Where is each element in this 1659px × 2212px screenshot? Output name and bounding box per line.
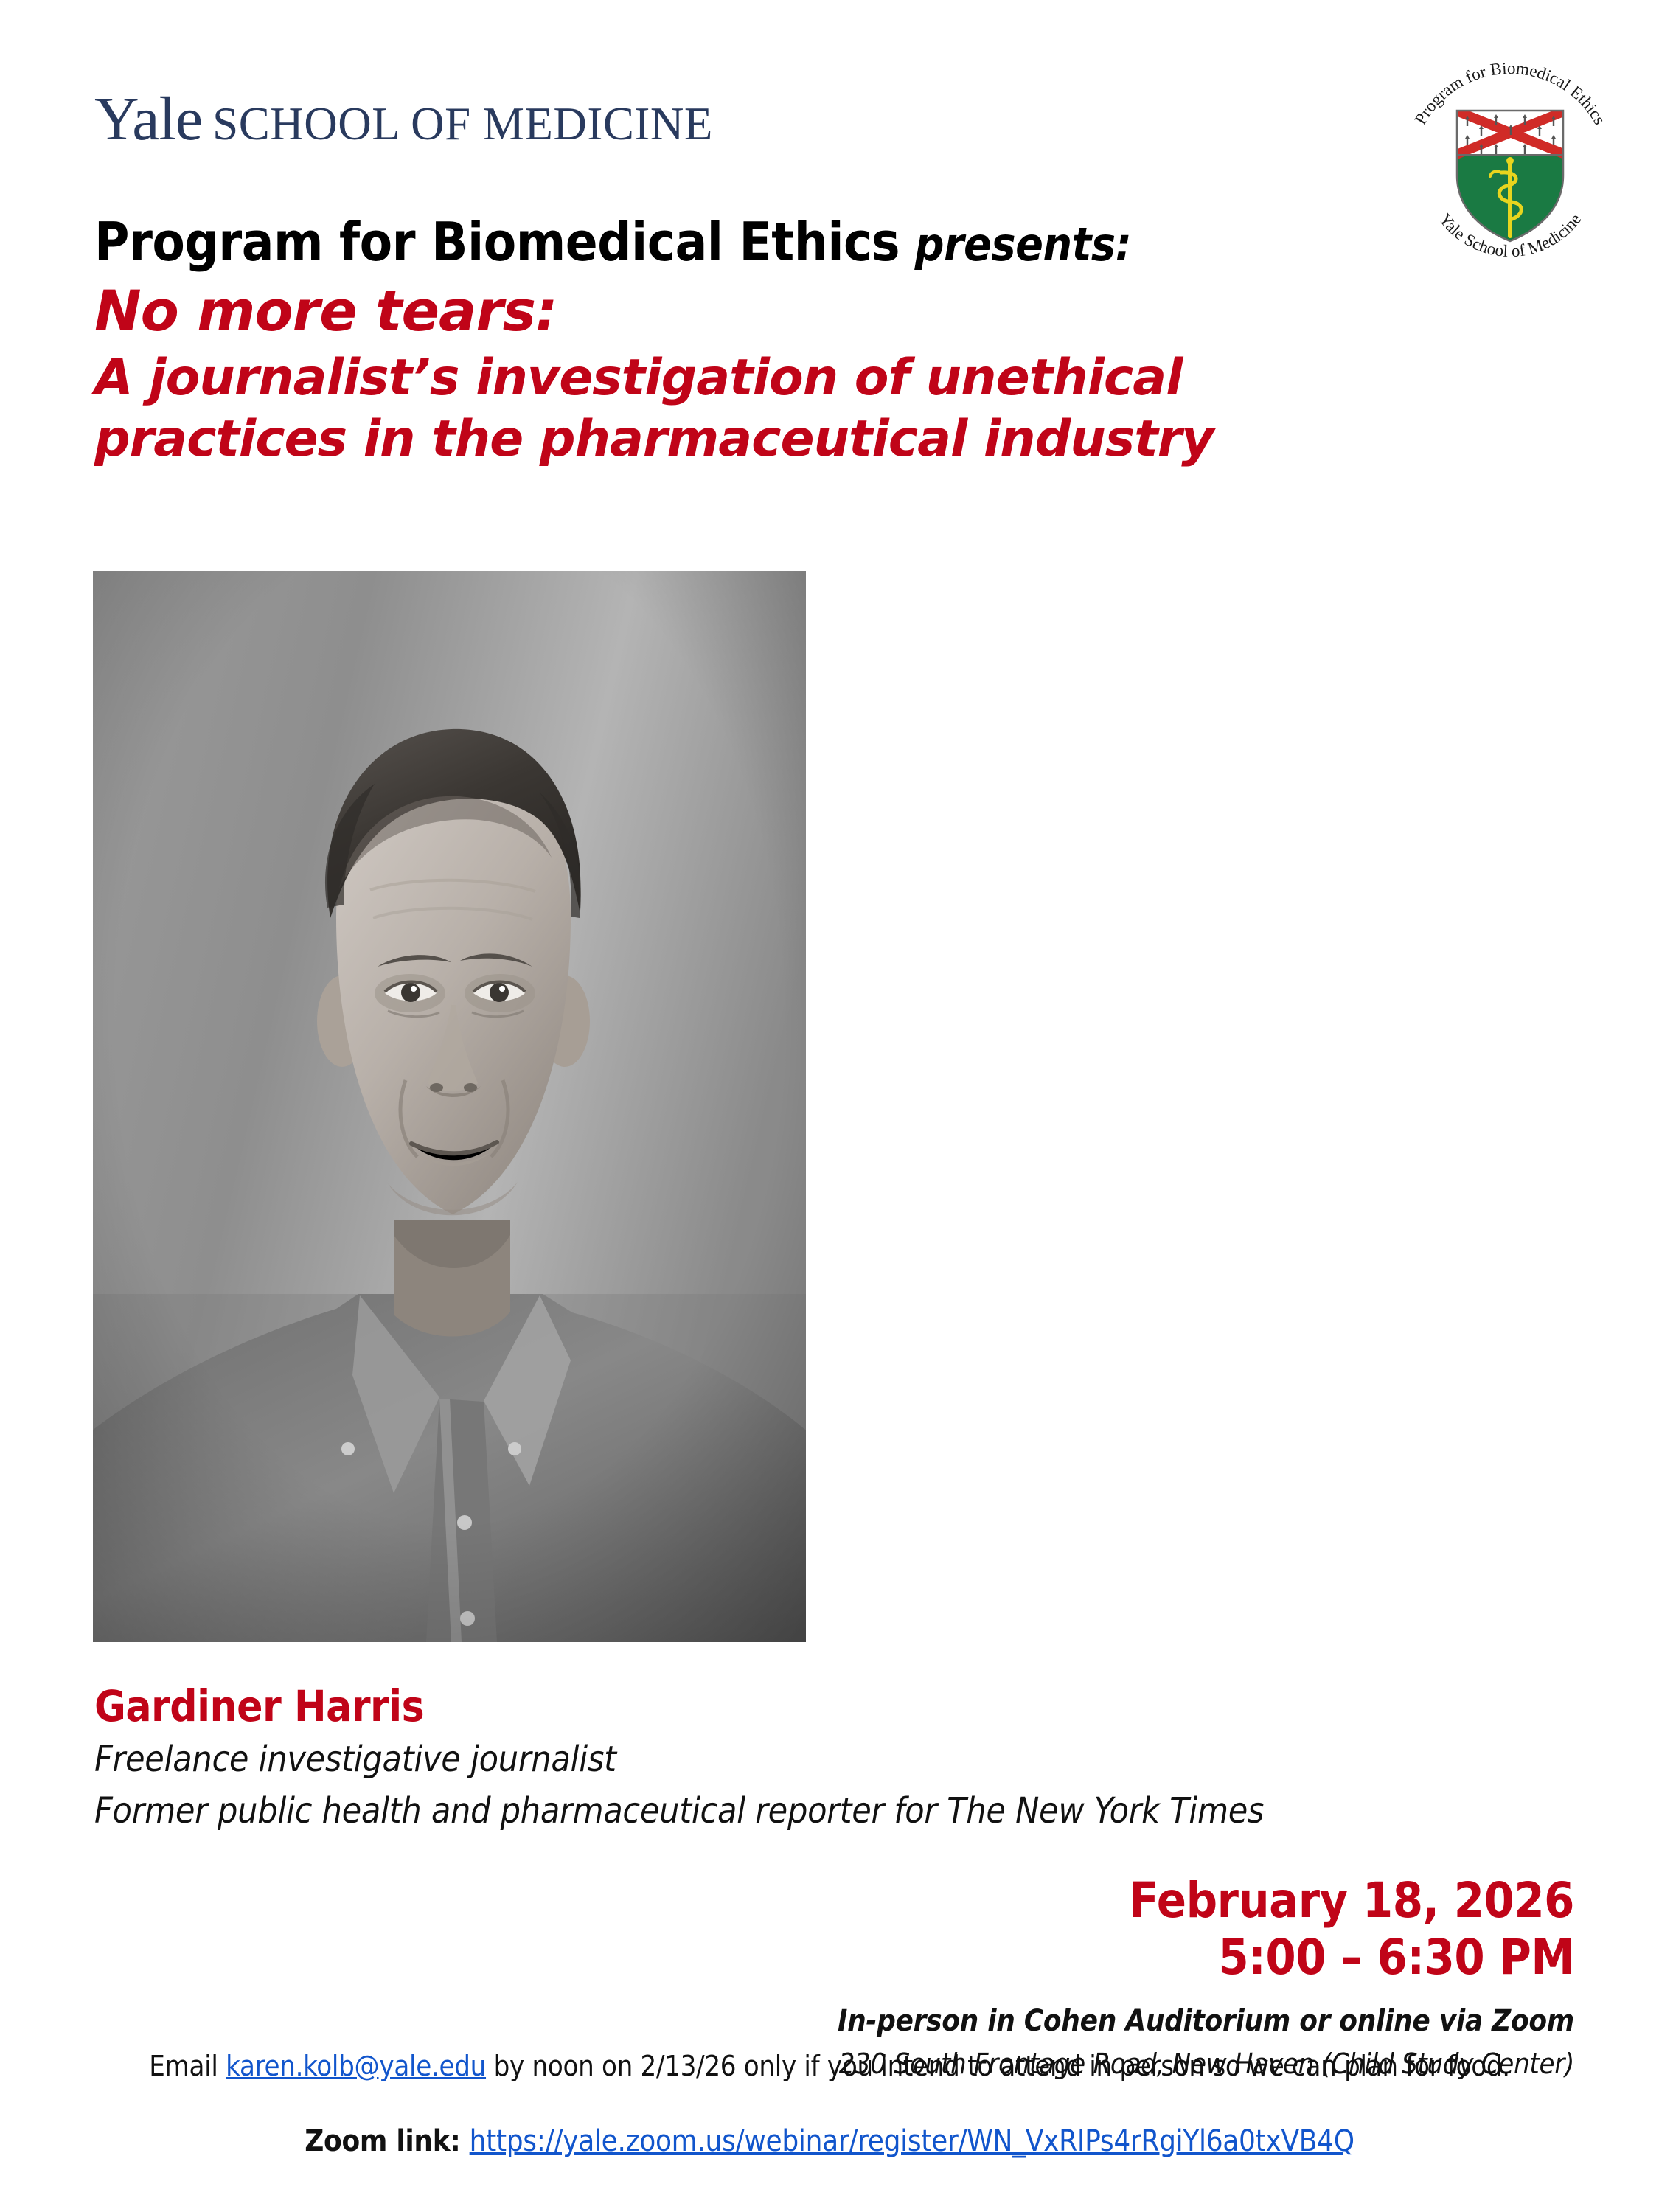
program-name: Program for Biomedical Ethics (94, 211, 900, 273)
talk-title: No more tears: (94, 279, 1495, 342)
event-date: February 18, 2026 (44, 1873, 1574, 1930)
event-time: 5:00 – 6:30 PM (44, 1930, 1574, 1986)
event-venue: In-person in Cohen Auditorium or online … (44, 2002, 1574, 2040)
zoom-link-label: Zoom link: (305, 2124, 469, 2158)
event-poster: YaleSCHOOL OF MEDICINE Program for Biome… (0, 0, 1659, 2212)
speaker-block: Gardiner Harris Freelance investigative … (94, 1683, 1422, 1834)
headline-block: Program for Biomedical Ethics presents: … (94, 212, 1495, 470)
rsvp-prefix: Email (149, 2050, 226, 2082)
yale-wordmark: YaleSCHOOL OF MEDICINE (94, 88, 713, 150)
rsvp-suffix: by noon on 2/13/26 only if you intend to… (486, 2050, 1510, 2082)
zoom-link-line: Zoom link: https://yale.zoom.us/webinar/… (44, 2122, 1615, 2160)
speaker-role-line-2: Former public health and pharmaceutical … (94, 1788, 1422, 1834)
yale-wordmark-unit: SCHOOL OF MEDICINE (212, 98, 713, 150)
speaker-role-line-1: Freelance investigative journalist (94, 1736, 1422, 1782)
zoom-registration-link[interactable]: https://yale.zoom.us/webinar/register/WN… (470, 2124, 1354, 2158)
presents-label: presents: (915, 218, 1132, 271)
program-presents-line: Program for Biomedical Ethics presents: (94, 212, 1495, 272)
talk-subtitle: A journalist’s investigation of unethica… (94, 348, 1444, 470)
speaker-name: Gardiner Harris (94, 1683, 1422, 1731)
rsvp-email-link[interactable]: karen.kolb@yale.edu (226, 2050, 486, 2082)
speaker-portrait-photo (93, 571, 806, 1642)
yale-wordmark-name: Yale (94, 85, 202, 153)
rsvp-line: Email karen.kolb@yale.edu by noon on 2/1… (44, 2048, 1615, 2084)
